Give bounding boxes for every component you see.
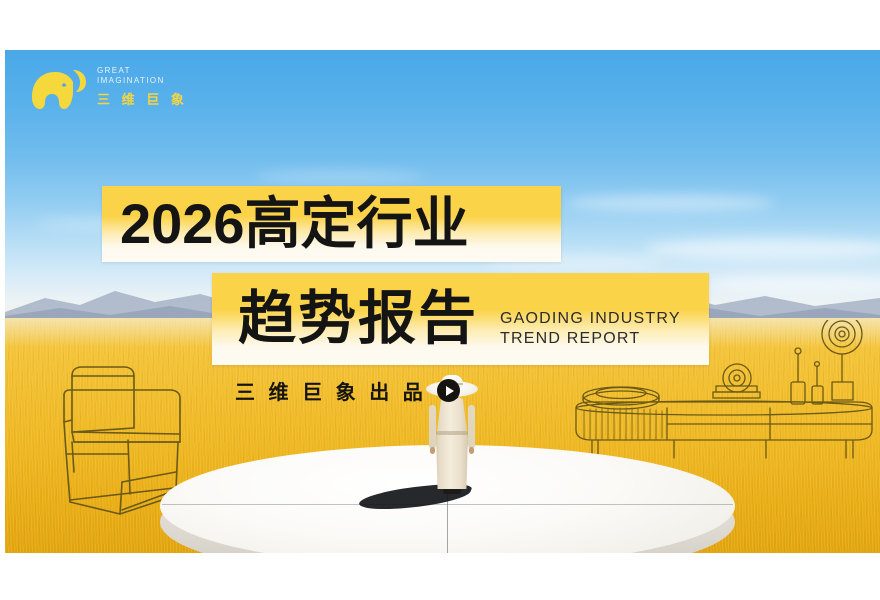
poster-root: 2026高定行业 趋势报告 GAODING INDUSTRY TREND REP… [0, 0, 880, 600]
short-vase [812, 362, 823, 404]
elephant-logo-icon [28, 61, 88, 113]
logo-text-block: GREAT IMAGINATION 三 维 巨 象 [97, 66, 188, 108]
logo-chinese-name: 三 维 巨 象 [97, 89, 188, 108]
logo-english-name: GREAT IMAGINATION [97, 66, 188, 86]
books-and-plate [713, 364, 760, 398]
brand-logo-lockup[interactable]: GREAT IMAGINATION 三 维 巨 象 [28, 61, 188, 113]
title-band-primary: 2026高定行业 [102, 186, 561, 262]
title-line-1: 2026高定行业 [120, 192, 469, 256]
figure-dress [433, 397, 471, 489]
play-button-icon[interactable] [437, 379, 460, 402]
tall-vase [791, 348, 805, 404]
byline-text: 三 维 巨 象 出 品 [235, 376, 427, 405]
title-english-subtitle: GAODING INDUSTRY TREND REPORT [500, 309, 681, 349]
figure-arm-left [429, 405, 436, 449]
figure-hand-right [469, 447, 474, 454]
figure-belt [436, 431, 468, 435]
poster-stage: 2026高定行业 趋势报告 GAODING INDUSTRY TREND REP… [5, 50, 880, 553]
oval-tray [583, 387, 659, 409]
figure-hand-left [430, 447, 435, 454]
figure-arm-right [468, 405, 475, 449]
figure-shoes [443, 489, 461, 494]
title-band-secondary: 趋势报告 GAODING INDUSTRY TREND REPORT [212, 273, 709, 365]
title-line-2: 趋势报告 [238, 285, 478, 353]
byline-row: 三 维 巨 象 出 品 [235, 376, 460, 405]
disc-sculpture [822, 320, 862, 400]
play-triangle [446, 386, 454, 396]
